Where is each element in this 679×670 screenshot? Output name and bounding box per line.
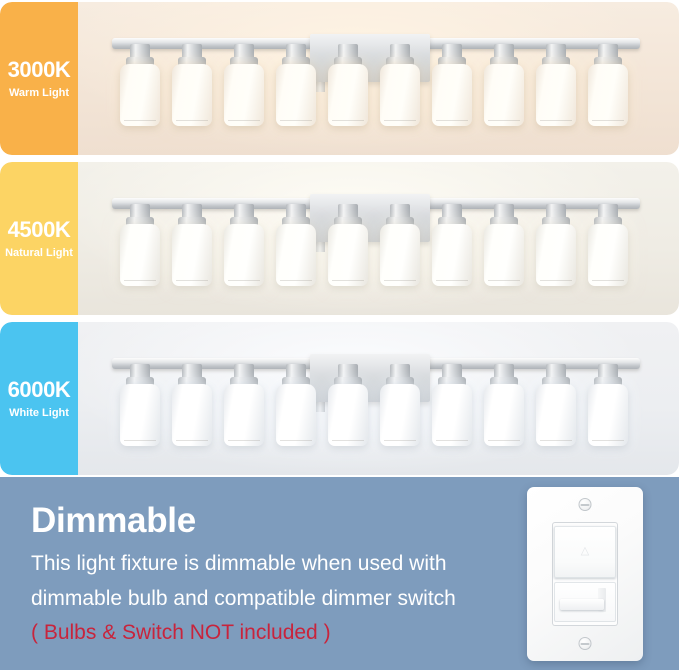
lamp-glass-shade	[172, 384, 212, 446]
lamp-head	[482, 364, 526, 448]
color-temperature-value: 4500K	[8, 219, 71, 241]
lamp-shade-rim	[228, 280, 260, 281]
lamp-shade-rim	[540, 280, 572, 281]
lamp-head	[118, 44, 162, 128]
lamp-shade-rim	[332, 280, 364, 281]
lamp-head	[222, 204, 266, 288]
vanity-light-fixture	[112, 350, 640, 450]
color-temperature-tab-6000k: 6000K White Light	[0, 322, 78, 475]
lamp-shade-rim	[436, 120, 468, 121]
lamp-glass-shade	[484, 384, 524, 446]
color-temperature-panel-4500k: 4500K Natural Light	[0, 162, 679, 315]
lamp-head	[430, 44, 474, 128]
lamp-shade-rim	[488, 280, 520, 281]
dimmable-title: Dimmable	[31, 503, 196, 538]
lamp-head	[170, 204, 214, 288]
lamp-head	[482, 44, 526, 128]
lamp-shade-rim	[228, 120, 260, 121]
lamp-shade-rim	[176, 440, 208, 441]
lamp-glass-shade	[276, 64, 316, 126]
lamp-glass-shade	[432, 224, 472, 286]
vanity-light-fixture	[112, 190, 640, 290]
lamp-glass-shade	[224, 224, 264, 286]
dimmer-switch-image: △	[527, 487, 643, 661]
lamp-head	[586, 44, 630, 128]
lamp-head	[378, 204, 422, 288]
lamp-head	[378, 364, 422, 448]
lamp-head	[534, 204, 578, 288]
color-temperature-value: 3000K	[8, 59, 71, 81]
switch-inner-frame: △	[552, 522, 618, 626]
switch-dimmer-slider-track	[554, 582, 616, 622]
switch-screw-top-icon	[579, 498, 592, 511]
dimmable-description-line-2: dimmable bulb and compatible dimmer swit…	[31, 588, 456, 609]
lamp-glass-shade	[120, 224, 160, 286]
color-temperature-label: White Light	[9, 408, 69, 419]
lamp-shade-rim	[384, 120, 416, 121]
switch-dimmer-slider-knob	[560, 599, 604, 610]
lamp-glass-shade	[588, 224, 628, 286]
lamp-glass-shade	[588, 384, 628, 446]
lamp-head	[274, 204, 318, 288]
lamp-glass-shade	[380, 224, 420, 286]
lamp-glass-shade	[432, 384, 472, 446]
color-temperature-panel-6000k: 6000K White Light	[0, 322, 679, 475]
color-temperature-panel-3000k: 3000K Warm Light	[0, 2, 679, 155]
lamp-shade-rim	[280, 440, 312, 441]
lamp-head	[118, 204, 162, 288]
lamp-glass-shade	[172, 224, 212, 286]
switch-screw-bottom-icon	[579, 637, 592, 650]
lamp-shade-rim	[384, 440, 416, 441]
lamp-glass-shade	[484, 224, 524, 286]
fixture-scene-cool	[0, 322, 679, 475]
lamp-glass-shade	[328, 224, 368, 286]
lamp-glass-shade	[484, 64, 524, 126]
lamp-head	[118, 364, 162, 448]
lamp-glass-shade	[328, 384, 368, 446]
lamp-head	[586, 204, 630, 288]
lamp-glass-shade	[276, 384, 316, 446]
lamp-glass-shade	[588, 64, 628, 126]
lamp-shade-rim	[384, 280, 416, 281]
dimmable-exclusion-note: ( Bulbs & Switch NOT included )	[31, 622, 331, 643]
dimmable-description-line-1: This light fixture is dimmable when used…	[31, 553, 447, 574]
lamp-shade-rim	[436, 440, 468, 441]
lamp-glass-shade	[380, 64, 420, 126]
lamp-shade-rim	[228, 440, 260, 441]
lamp-shade-rim	[280, 120, 312, 121]
lamp-head	[222, 364, 266, 448]
lamp-glass-shade	[120, 64, 160, 126]
switch-rocker-paddle: △	[554, 526, 616, 578]
lamp-shade-rim	[540, 120, 572, 121]
color-temperature-tab-4500k: 4500K Natural Light	[0, 162, 78, 315]
lamp-shade-rim	[332, 440, 364, 441]
lamp-head	[170, 44, 214, 128]
lamp-shade-rim	[436, 280, 468, 281]
lamp-head	[274, 44, 318, 128]
lamp-head	[274, 364, 318, 448]
lamp-glass-shade	[432, 64, 472, 126]
lamp-head	[326, 204, 370, 288]
lamp-glass-shade	[536, 64, 576, 126]
lamp-head	[482, 204, 526, 288]
color-temperature-value: 6000K	[8, 379, 71, 401]
lamp-shade-rim	[280, 280, 312, 281]
lamp-head	[430, 204, 474, 288]
lamp-glass-shade	[328, 64, 368, 126]
lamp-head	[430, 364, 474, 448]
lamp-head	[534, 364, 578, 448]
lamp-head	[326, 364, 370, 448]
lamp-shade-rim	[176, 120, 208, 121]
lamp-shade-rim	[488, 120, 520, 121]
fixture-scene-natural	[0, 162, 679, 315]
color-temperature-tab-3000k: 3000K Warm Light	[0, 2, 78, 155]
lamp-head	[326, 44, 370, 128]
lamp-shade-rim	[176, 280, 208, 281]
color-temperature-label: Natural Light	[5, 248, 73, 259]
vanity-light-fixture	[112, 30, 640, 130]
lamp-glass-shade	[224, 64, 264, 126]
lamp-shade-rim	[124, 120, 156, 121]
lamp-head	[534, 44, 578, 128]
lamp-shade-rim	[592, 440, 624, 441]
lamp-glass-shade	[536, 384, 576, 446]
fixture-scene-warm	[0, 2, 679, 155]
lamp-glass-shade	[172, 64, 212, 126]
lamp-glass-shade	[276, 224, 316, 286]
lamp-head	[170, 364, 214, 448]
lamp-shade-rim	[488, 440, 520, 441]
lamp-shade-rim	[124, 440, 156, 441]
lamp-glass-shade	[536, 224, 576, 286]
lamp-glass-shade	[224, 384, 264, 446]
lamp-glass-shade	[380, 384, 420, 446]
lamp-head	[586, 364, 630, 448]
color-temperature-label: Warm Light	[9, 88, 69, 99]
lamp-shade-rim	[124, 280, 156, 281]
lamp-shade-rim	[332, 120, 364, 121]
lamp-shade-rim	[540, 440, 572, 441]
lamp-shade-rim	[592, 120, 624, 121]
lamp-head	[222, 44, 266, 128]
switch-rocker-mark-icon: △	[581, 546, 589, 557]
lamp-head	[378, 44, 422, 128]
lamp-glass-shade	[120, 384, 160, 446]
lamp-shade-rim	[592, 280, 624, 281]
